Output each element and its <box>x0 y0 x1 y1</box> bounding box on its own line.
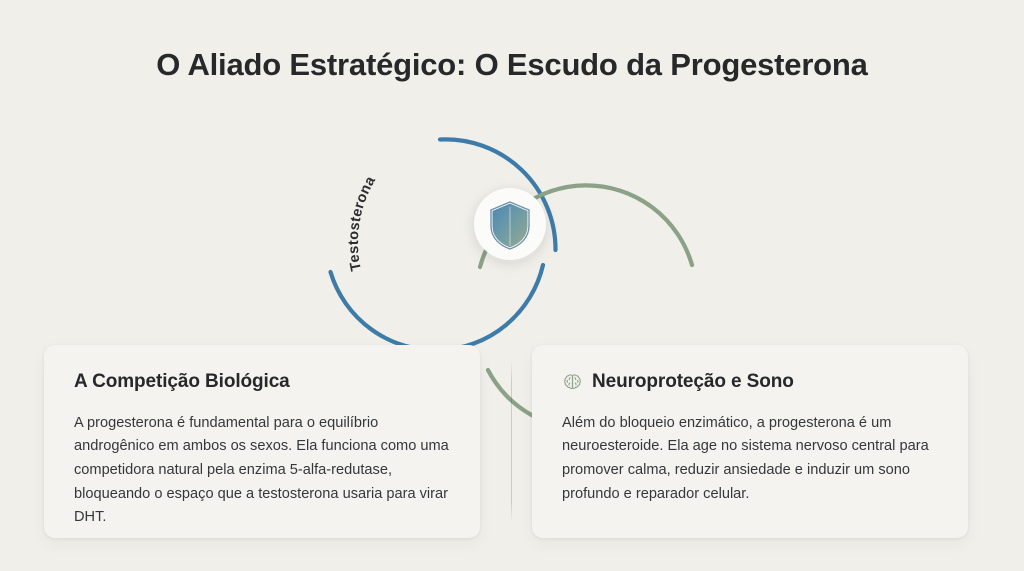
cards-row: A Competição Biológica A progesterona é … <box>44 345 980 538</box>
slide-canvas: O Aliado Estratégico: O Escudo da Proges… <box>0 0 1024 571</box>
venn-diagram: Testosterona Progesterona <box>262 95 762 345</box>
brain-icon <box>562 372 583 393</box>
card-body-text: Além do bloqueio enzimático, a progester… <box>562 412 938 507</box>
page-title: O Aliado Estratégico: O Escudo da Proges… <box>0 48 1024 82</box>
shield-badge <box>474 188 546 260</box>
shield-icon <box>491 202 529 249</box>
card-title: Neuroproteção e Sono <box>592 371 794 394</box>
card-title: A Competição Biológica <box>74 371 290 394</box>
venn-label-testosterona: Testosterona <box>346 173 379 272</box>
card-neuroprotecao-e-sono[interactable]: Neuroproteção e Sono Além do bloqueio en… <box>532 345 968 538</box>
card-header: A Competição Biológica <box>74 371 450 394</box>
card-body-text: A progesterona é fundamental para o equi… <box>74 412 450 530</box>
card-competicao-biologica[interactable]: A Competição Biológica A progesterona é … <box>44 345 480 538</box>
card-header: Neuroproteção e Sono <box>562 371 938 394</box>
